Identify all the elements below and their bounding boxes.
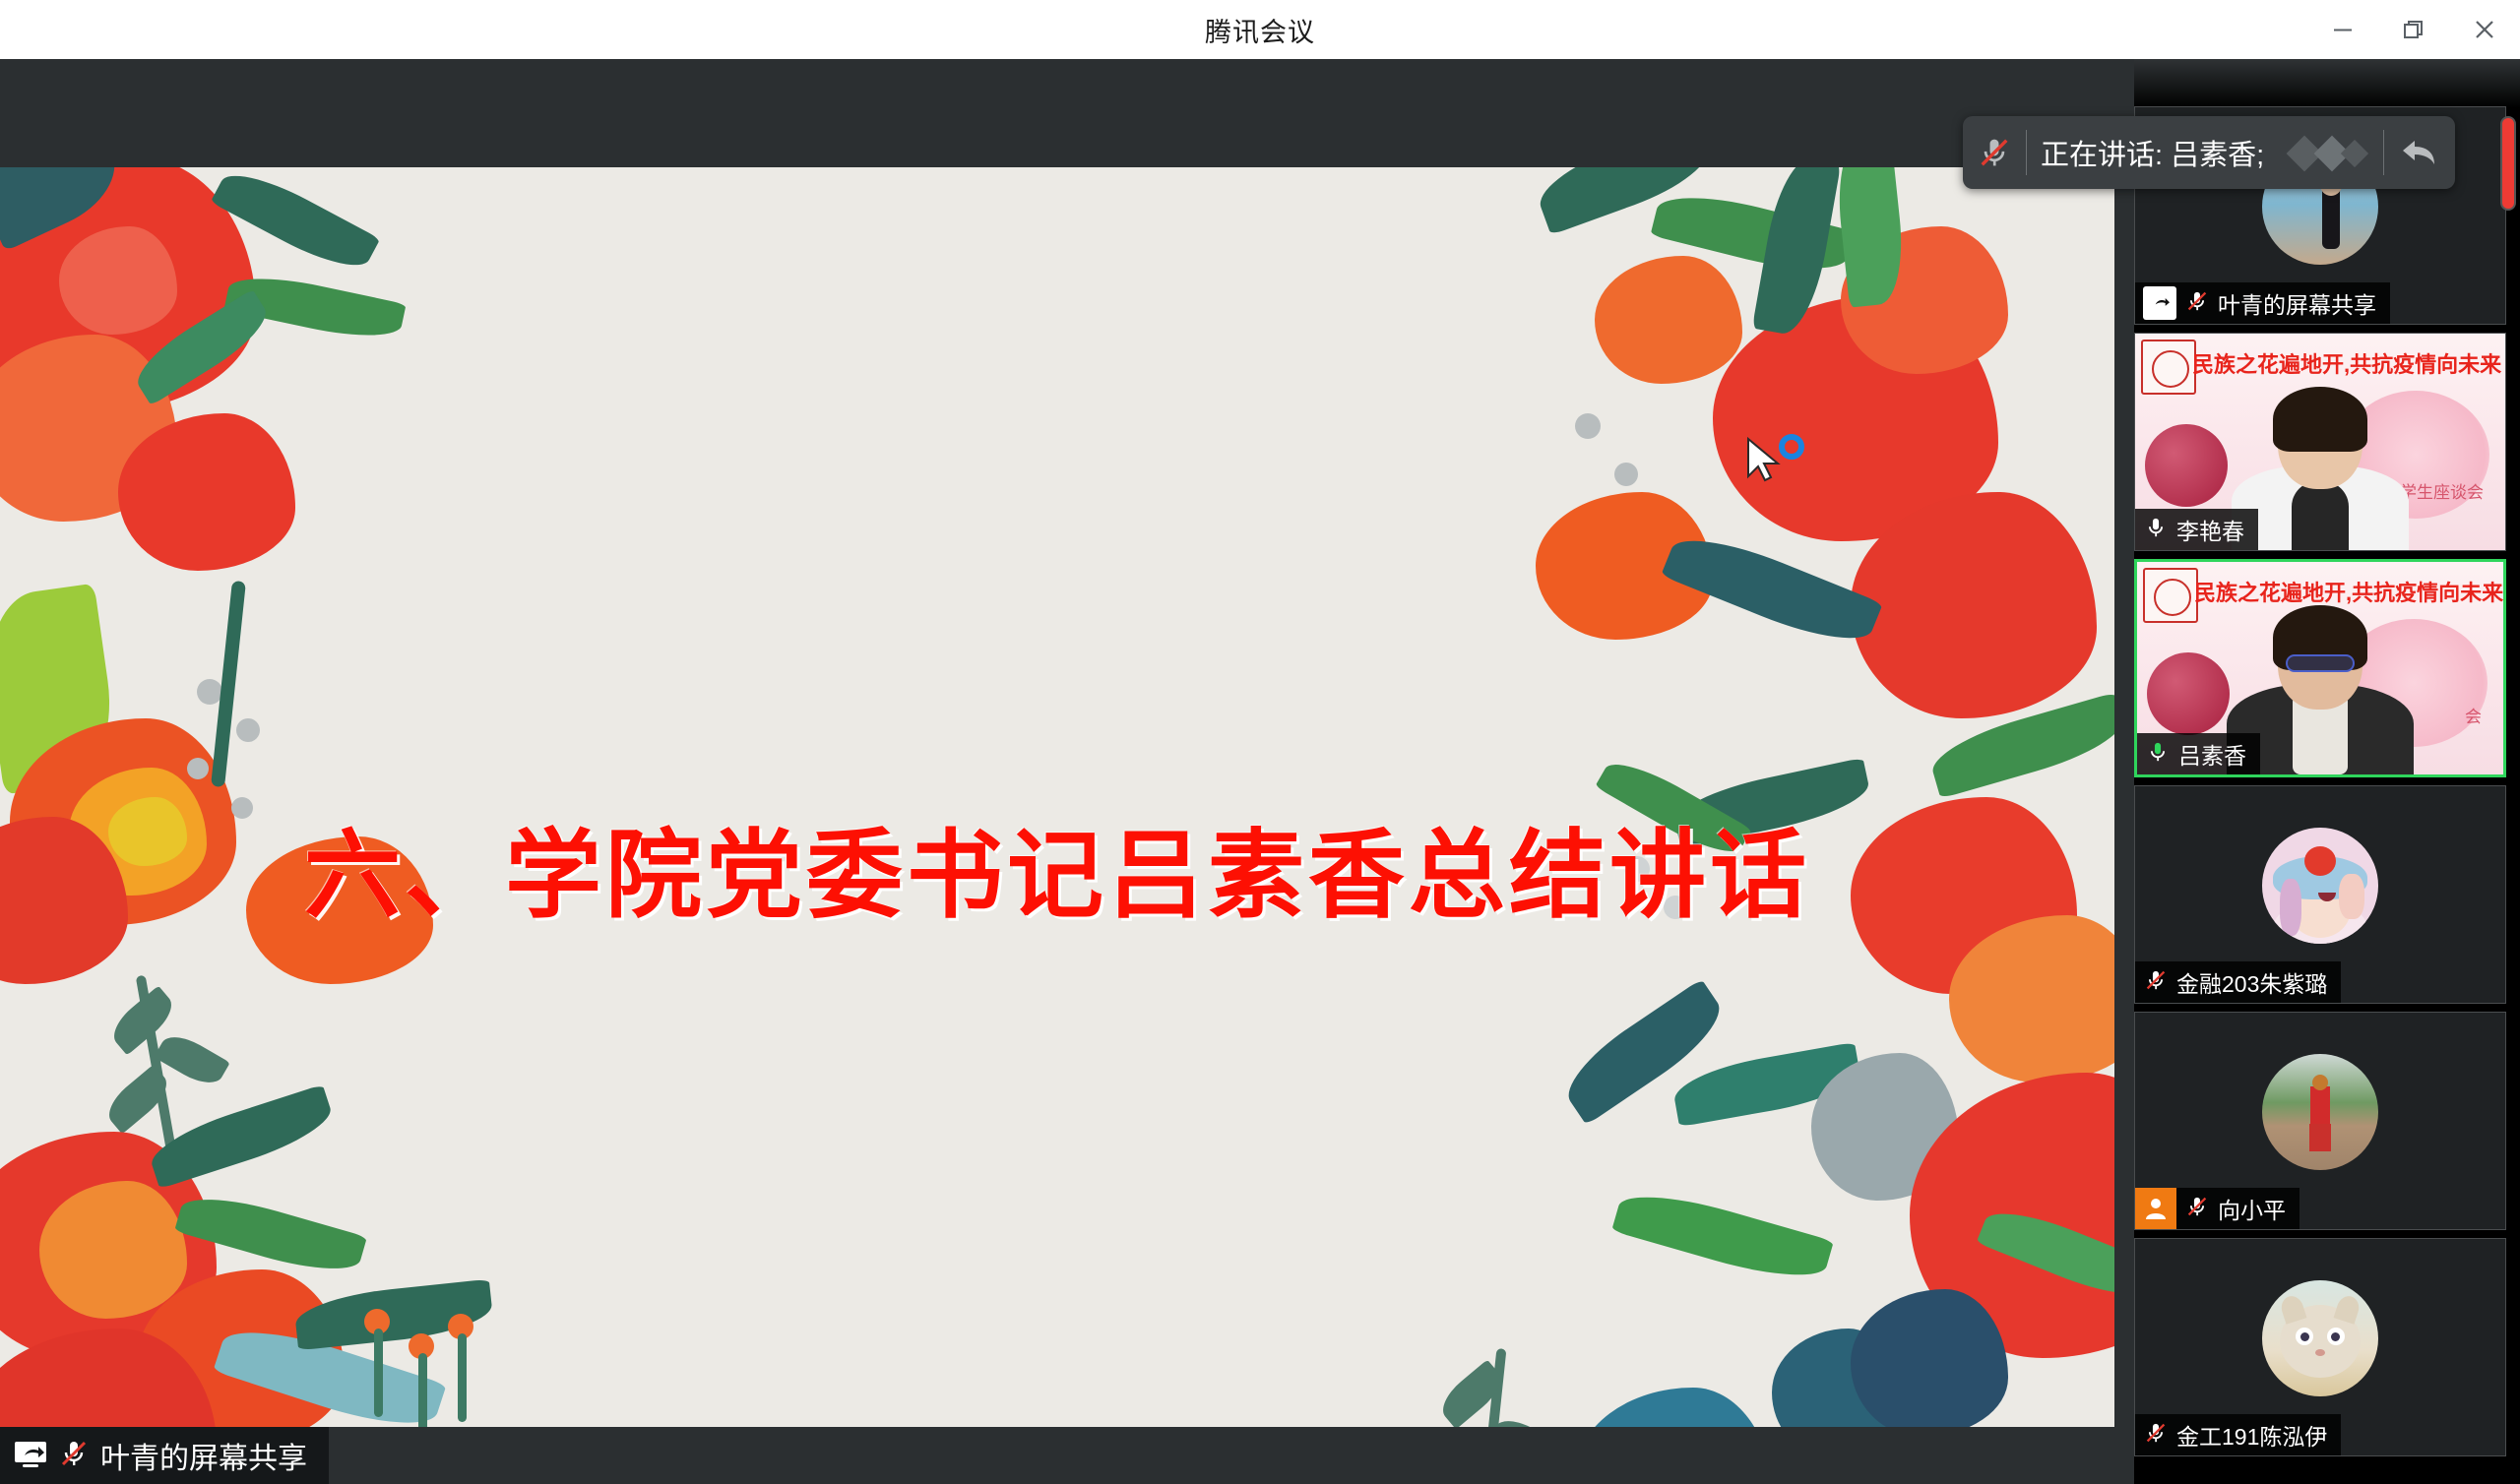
close-button[interactable] [2449,0,2520,59]
berry [187,758,209,779]
banner-subtext: 学生座谈会 [2400,478,2484,503]
mic-speaking-icon [2145,739,2171,770]
participant-name: 叶青的屏幕共享 [2218,286,2376,320]
mic-muted-icon [57,1437,91,1475]
participant-strip[interactable]: 叶青的屏幕共享 民族之花遍地开,共抗疫情向未来 学生座谈会 [2134,59,2520,1484]
restore-button[interactable] [2378,0,2449,59]
avatar [2262,1054,2378,1170]
tile-nametag: 叶青的屏幕共享 [2135,282,2390,324]
person-head [2278,615,2362,710]
pomegranate-graphic [2145,424,2228,507]
minimize-button[interactable] [2307,0,2378,59]
flower-petal [1595,256,1742,384]
banner-subtext: 会 [2465,703,2482,727]
shared-screen-stage[interactable]: 六、学院党委书记吕素香总结讲话 [0,167,2114,1427]
stem [418,1353,427,1427]
screen-share-icon [14,1440,47,1472]
slide-title: 六、学院党委书记吕素香总结讲话 [0,797,2114,937]
university-seal [2143,568,2198,623]
participant-strip-scrollbar[interactable] [2500,106,2516,1484]
stem [374,1329,383,1417]
avatar [2262,828,2378,944]
berry [1614,463,1638,486]
participant-tile-active-speaker[interactable]: 民族之花遍地开,共抗疫情向未来 会 吕素香 [2134,559,2506,777]
participant-name: 金融203朱紫璐 [2176,965,2327,999]
participant-tile[interactable]: 金工191陈泓伊 [2134,1238,2506,1456]
banner-text: 民族之花遍地开,共抗疫情向未来 [2192,347,2501,379]
mic-muted-icon [2184,1194,2210,1224]
person-torso [2292,481,2349,550]
university-seal [2141,340,2196,395]
tencent-meeting-logo-icon [2278,128,2383,177]
mic-muted-icon [2143,1420,2169,1451]
avatar [2262,1280,2378,1396]
tile-nametag: 金融203朱紫璐 [2135,961,2341,1003]
participant-name: 金工191陈泓伊 [2176,1418,2327,1452]
berry [236,718,260,742]
person-hair [2273,387,2367,452]
participant-name: 李艳春 [2176,513,2244,546]
window-controls [2307,0,2520,59]
mic-muted-icon [2184,288,2210,319]
host-person-icon [2135,1188,2176,1229]
mic-muted-icon[interactable] [1963,134,2026,171]
speaking-status-text: 正在讲话: 吕素香; [2027,132,2278,173]
tile-nametag: 金工191陈泓伊 [2135,1414,2341,1455]
screen-share-owner-label: 叶青的屏幕共享 [0,1427,329,1484]
leaf [1611,1182,1834,1291]
flower-petal [1575,1388,1772,1427]
scrollbar-thumb[interactable] [2500,116,2516,211]
participant-tile[interactable]: 金融203朱紫璐 [2134,785,2506,1004]
glasses-icon [2286,654,2355,672]
participant-tile[interactable]: 民族之花遍地开,共抗疫情向未来 学生座谈会 李艳春 [2134,333,2506,551]
participant-name: 吕素香 [2178,737,2246,771]
participant-tile[interactable]: 向小平 [2134,1012,2506,1230]
berry [1575,413,1601,439]
app-title: 腾讯会议 [1205,11,1315,49]
stem [458,1333,467,1422]
pomegranate-graphic [2147,652,2230,735]
presentation-slide: 六、学院党委书记吕素香总结讲话 [0,167,2114,1427]
banner-text: 民族之花遍地开,共抗疫情向未来 [2194,576,2503,607]
screen-share-icon [2143,286,2176,320]
window-title-bar: 腾讯会议 [0,0,2520,59]
flower-petal [1851,1289,2008,1427]
person-head [2278,395,2362,489]
participant-name: 向小平 [2218,1192,2286,1225]
return-arrow-icon[interactable] [2384,135,2455,170]
floating-speaking-bar[interactable]: 正在讲话: 吕素香; [1963,116,2455,189]
tile-nametag: 李艳春 [2135,509,2258,550]
mic-muted-icon [2143,967,2169,998]
mic-on-icon [2143,515,2169,545]
tile-nametag: 向小平 [2135,1188,2299,1229]
strip-top-gradient [2134,59,2520,108]
tile-nametag: 吕素香 [2137,733,2260,774]
screen-share-owner-name: 叶青的屏幕共享 [100,1434,307,1477]
